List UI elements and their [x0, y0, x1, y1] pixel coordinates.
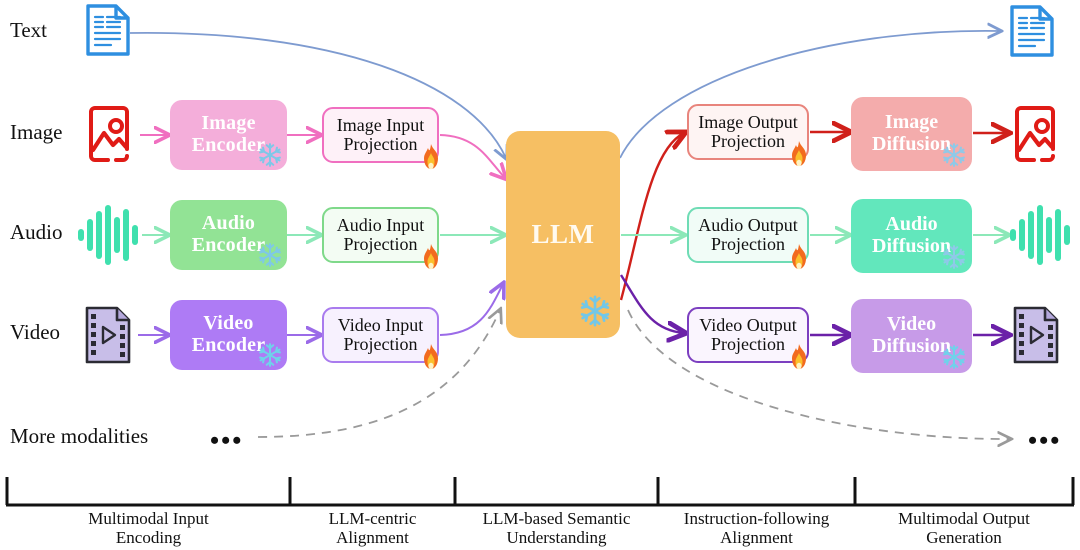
video-film-icon	[1012, 306, 1060, 364]
stage-0-line2: Encoding	[7, 528, 290, 547]
snowflake-icon	[257, 242, 283, 268]
image-output-projection-line1: Image Output	[698, 113, 797, 132]
video-encoder-box[interactable]: Video Encoder	[170, 300, 287, 370]
audio-encoder-line1: Audio	[192, 213, 266, 235]
modality-label-audio: Audio	[10, 220, 63, 245]
image-encoder-line1: Image	[192, 113, 266, 135]
video-output-projection-box[interactable]: Video Output Projection	[687, 307, 809, 363]
audio-output-projection-line1: Audio Output	[698, 216, 798, 235]
stage-3-line1: Instruction-following	[658, 509, 855, 528]
stage-label-instruction-following-alignment: Instruction-following Alignment	[658, 509, 855, 547]
audio-diffusion-line1: Audio	[872, 214, 951, 236]
video-encoder-line1: Video	[192, 313, 266, 335]
image-diffusion-line2: Diffusion	[872, 134, 951, 156]
video-film-icon	[84, 306, 132, 364]
image-encoder-box[interactable]: Image Encoder	[170, 100, 287, 170]
audio-input-projection-line1: Audio Input	[337, 216, 425, 235]
stage-3-line2: Alignment	[658, 528, 855, 547]
audio-waveform-icon	[1008, 203, 1074, 267]
stage-1-line2: Alignment	[290, 528, 455, 547]
image-diffusion-line1: Image	[872, 112, 951, 134]
stage-2-line1: LLM-based Semantic	[455, 509, 658, 528]
image-photo-icon	[1012, 105, 1058, 163]
snowflake-icon	[941, 344, 967, 370]
video-encoder-line2: Encoder	[192, 335, 266, 357]
audio-waveform-icon	[76, 203, 142, 267]
video-input-projection-line2: Projection	[338, 335, 423, 354]
arrow-video-projection-to-llm	[440, 284, 503, 335]
image-diffusion-box[interactable]: Image Diffusion	[851, 97, 972, 171]
fire-icon	[419, 343, 443, 371]
video-output-projection-line1: Video Output	[699, 316, 796, 335]
audio-encoder-box[interactable]: Audio Encoder	[170, 200, 287, 270]
text-document-icon	[84, 3, 132, 57]
audio-output-projection-line2: Projection	[698, 235, 798, 254]
arrow-llm-to-image-output-projection	[621, 133, 684, 300]
fire-icon	[787, 343, 811, 371]
fire-icon	[787, 243, 811, 271]
fire-icon	[419, 143, 443, 171]
video-output-projection-line2: Projection	[699, 335, 796, 354]
stage-label-multimodal-input-encoding: Multimodal Input Encoding	[7, 509, 290, 547]
modality-label-video: Video	[10, 320, 60, 345]
text-document-icon	[1008, 4, 1056, 58]
stage-4-line2: Generation	[855, 528, 1073, 547]
stage-label-llm-based-semantic-understanding: LLM-based Semantic Understanding	[455, 509, 658, 547]
modality-label-text: Text	[10, 18, 47, 43]
llm-box[interactable]: LLM	[506, 131, 620, 338]
video-diffusion-box[interactable]: Video Diffusion	[851, 299, 972, 373]
fire-icon	[419, 243, 443, 271]
image-output-projection-box[interactable]: Image Output Projection	[687, 104, 809, 160]
image-photo-icon	[86, 105, 132, 163]
video-diffusion-line2: Diffusion	[872, 336, 951, 358]
snowflake-icon	[257, 142, 283, 168]
video-diffusion-line1: Video	[872, 314, 951, 336]
modality-label-more-modalities: More modalities	[10, 424, 148, 449]
modality-label-image: Image	[10, 120, 62, 145]
audio-diffusion-line2: Diffusion	[872, 236, 951, 258]
video-input-projection-box[interactable]: Video Input Projection	[322, 307, 439, 363]
ellipsis-right-icon: •••	[1028, 428, 1061, 454]
snowflake-icon	[257, 342, 283, 368]
audio-input-projection-box[interactable]: Audio Input Projection	[322, 207, 439, 263]
video-input-projection-line1: Video Input	[338, 316, 423, 335]
llm-label: LLM	[531, 219, 594, 250]
stage-0-line1: Multimodal Input	[7, 509, 290, 528]
arrow-image-projection-to-llm	[440, 135, 505, 178]
snowflake-icon	[578, 294, 612, 328]
image-output-projection-line2: Projection	[698, 132, 797, 151]
ellipsis-left-icon: •••	[210, 428, 243, 454]
arrow-llm-to-video-output-projection	[621, 275, 684, 333]
stage-axis	[6, 477, 1074, 505]
snowflake-icon	[941, 142, 967, 168]
stage-label-llm-centric-alignment: LLM-centric Alignment	[290, 509, 455, 547]
image-input-projection-box[interactable]: Image Input Projection	[322, 107, 439, 163]
audio-input-projection-line2: Projection	[337, 235, 425, 254]
audio-diffusion-box[interactable]: Audio Diffusion	[851, 199, 972, 273]
image-encoder-line2: Encoder	[192, 135, 266, 157]
image-input-projection-line1: Image Input	[337, 116, 424, 135]
image-input-projection-line2: Projection	[337, 135, 424, 154]
stage-label-multimodal-output-generation: Multimodal Output Generation	[855, 509, 1073, 547]
stage-2-line2: Understanding	[455, 528, 658, 547]
fire-icon	[787, 140, 811, 168]
audio-output-projection-box[interactable]: Audio Output Projection	[687, 207, 809, 263]
snowflake-icon	[941, 244, 967, 270]
stage-4-line1: Multimodal Output	[855, 509, 1073, 528]
stage-1-line1: LLM-centric	[290, 509, 455, 528]
diagram-canvas: Text Image Audio Video More modalities	[0, 0, 1080, 550]
audio-encoder-line2: Encoder	[192, 235, 266, 257]
